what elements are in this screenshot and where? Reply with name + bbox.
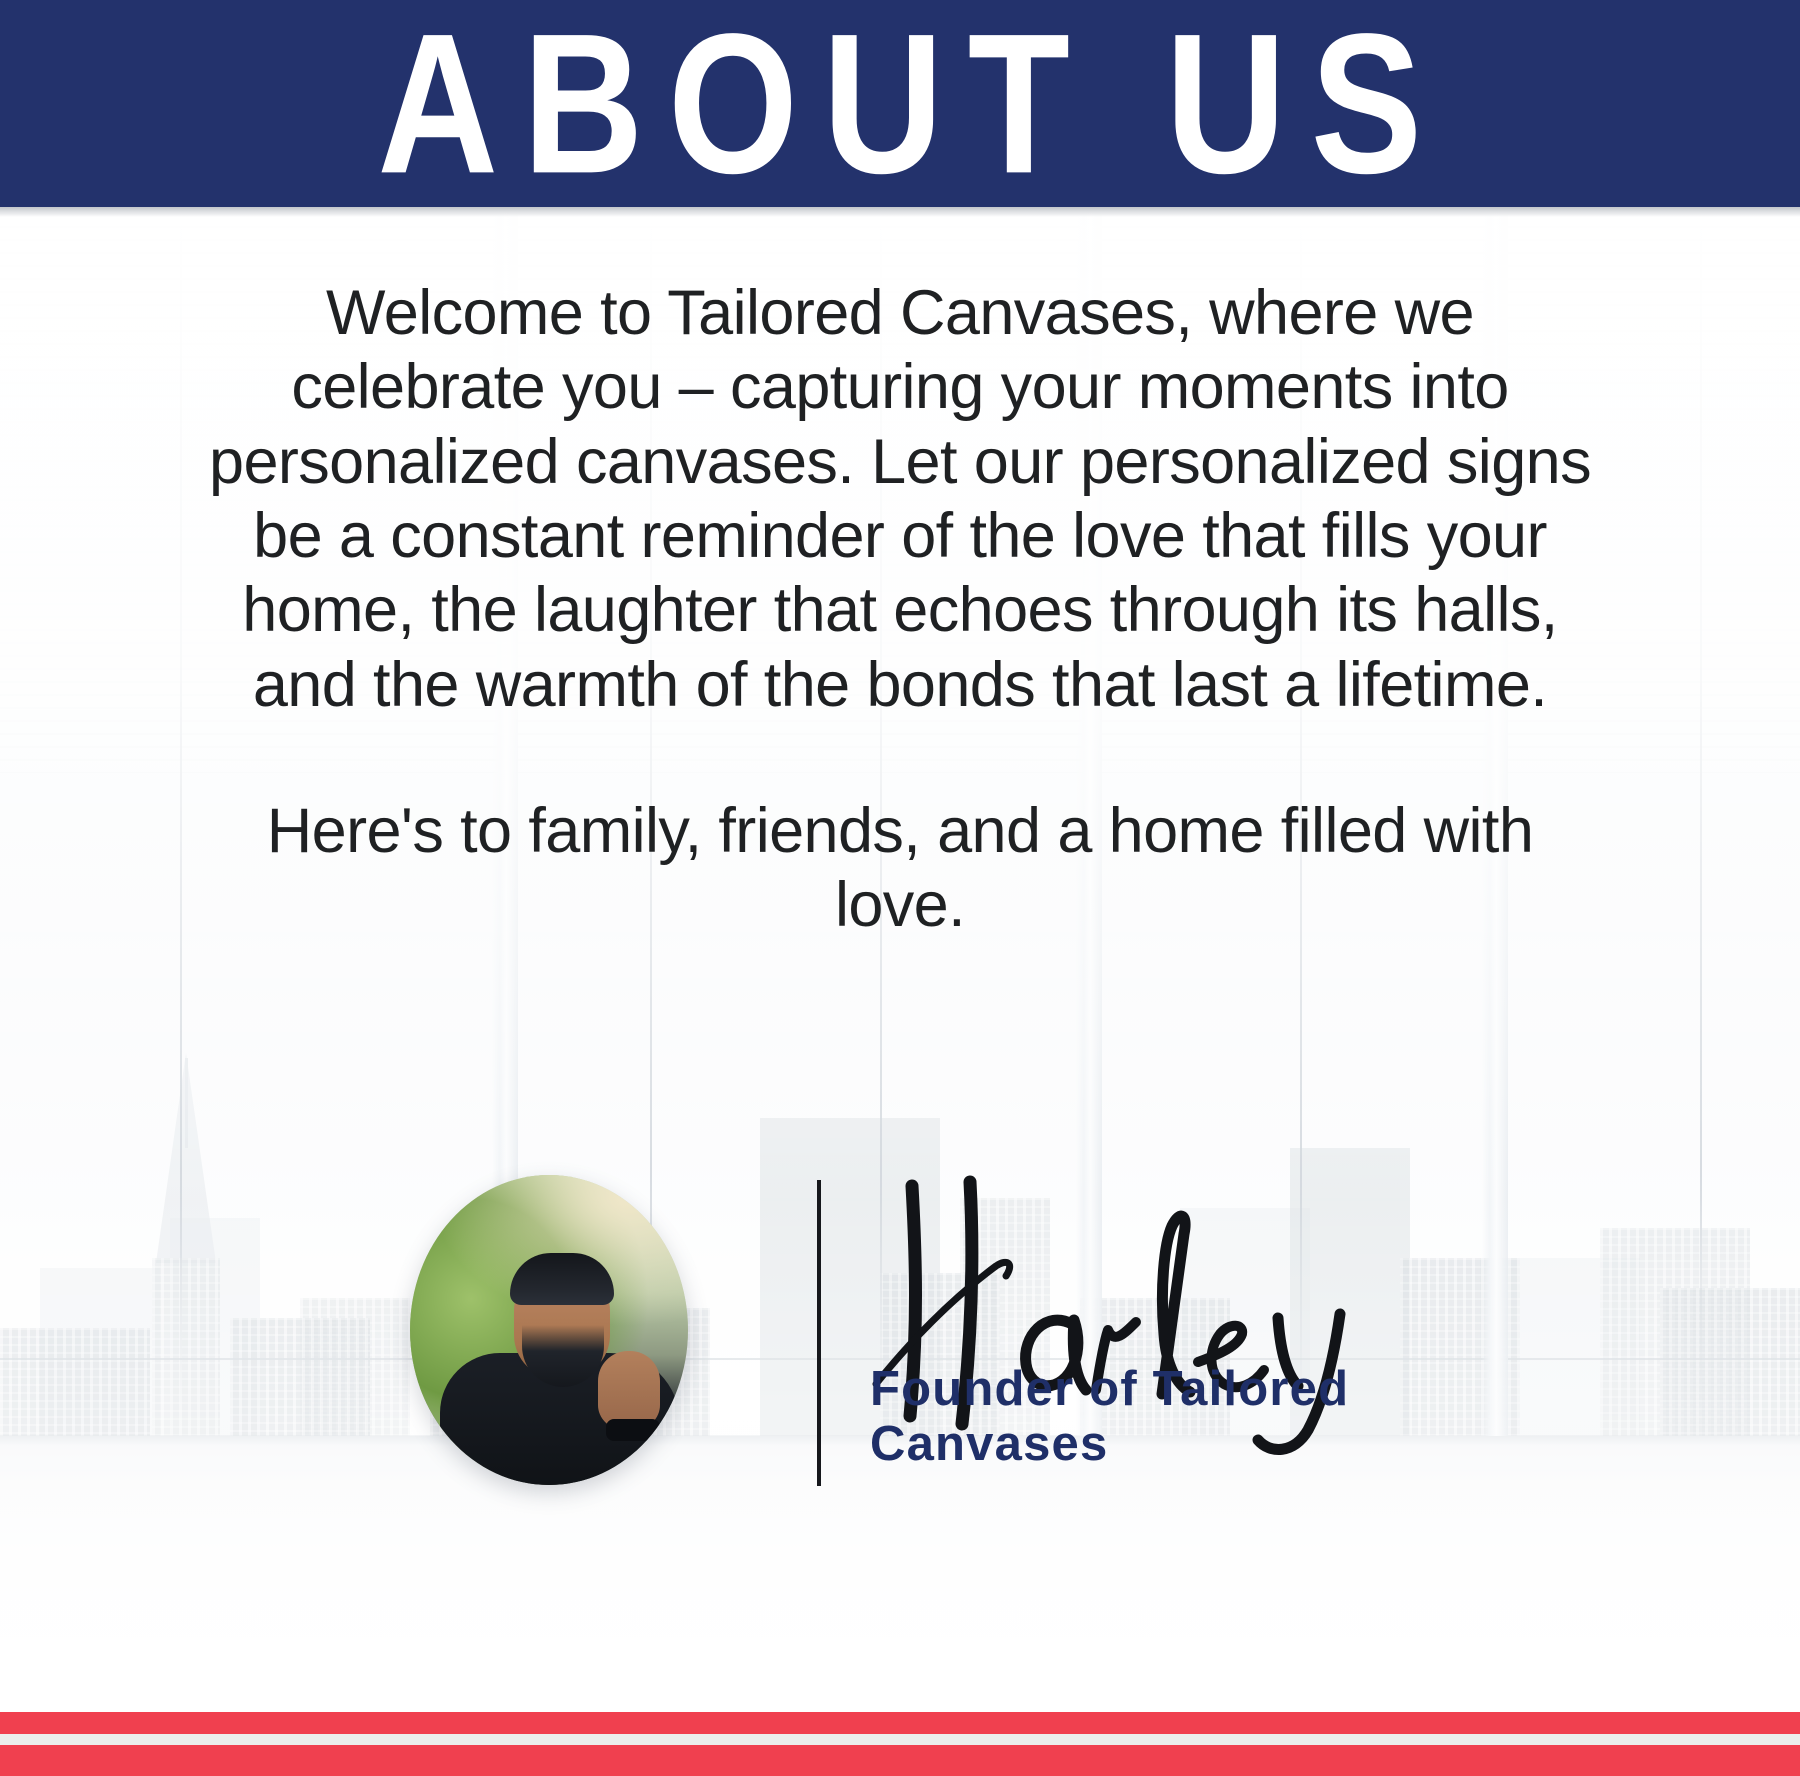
page-title: ABOUT US	[353, 4, 1447, 203]
avatar-watch	[606, 1419, 660, 1441]
signature-divider	[817, 1180, 821, 1486]
avatar-hand	[598, 1351, 660, 1429]
signature-block: Founder of Tailored Canvases	[0, 1130, 1800, 1550]
about-us-poster: ABOUT US Welcome to Tailored Canvases, w…	[0, 0, 1800, 1776]
founder-title-line-1: Founder of Tailored	[870, 1362, 1430, 1417]
about-body-copy: Welcome to Tailored Canvases, where we c…	[200, 276, 1600, 943]
footer-bar-bottom	[0, 1745, 1800, 1776]
footer-bar-gap	[0, 1734, 1800, 1745]
founder-title-line-2: Canvases	[870, 1417, 1430, 1472]
avatar-hair	[510, 1253, 614, 1305]
header-shadow	[0, 207, 1800, 217]
founder-title: Founder of Tailored Canvases	[870, 1362, 1430, 1472]
about-paragraph-2: Here's to family, friends, and a home fi…	[200, 794, 1600, 943]
about-paragraph-1: Welcome to Tailored Canvases, where we c…	[200, 276, 1600, 722]
header-bar: ABOUT US	[0, 0, 1800, 207]
avatar	[410, 1175, 688, 1485]
paragraph-spacer	[200, 722, 1600, 794]
footer-bar-top	[0, 1712, 1800, 1734]
